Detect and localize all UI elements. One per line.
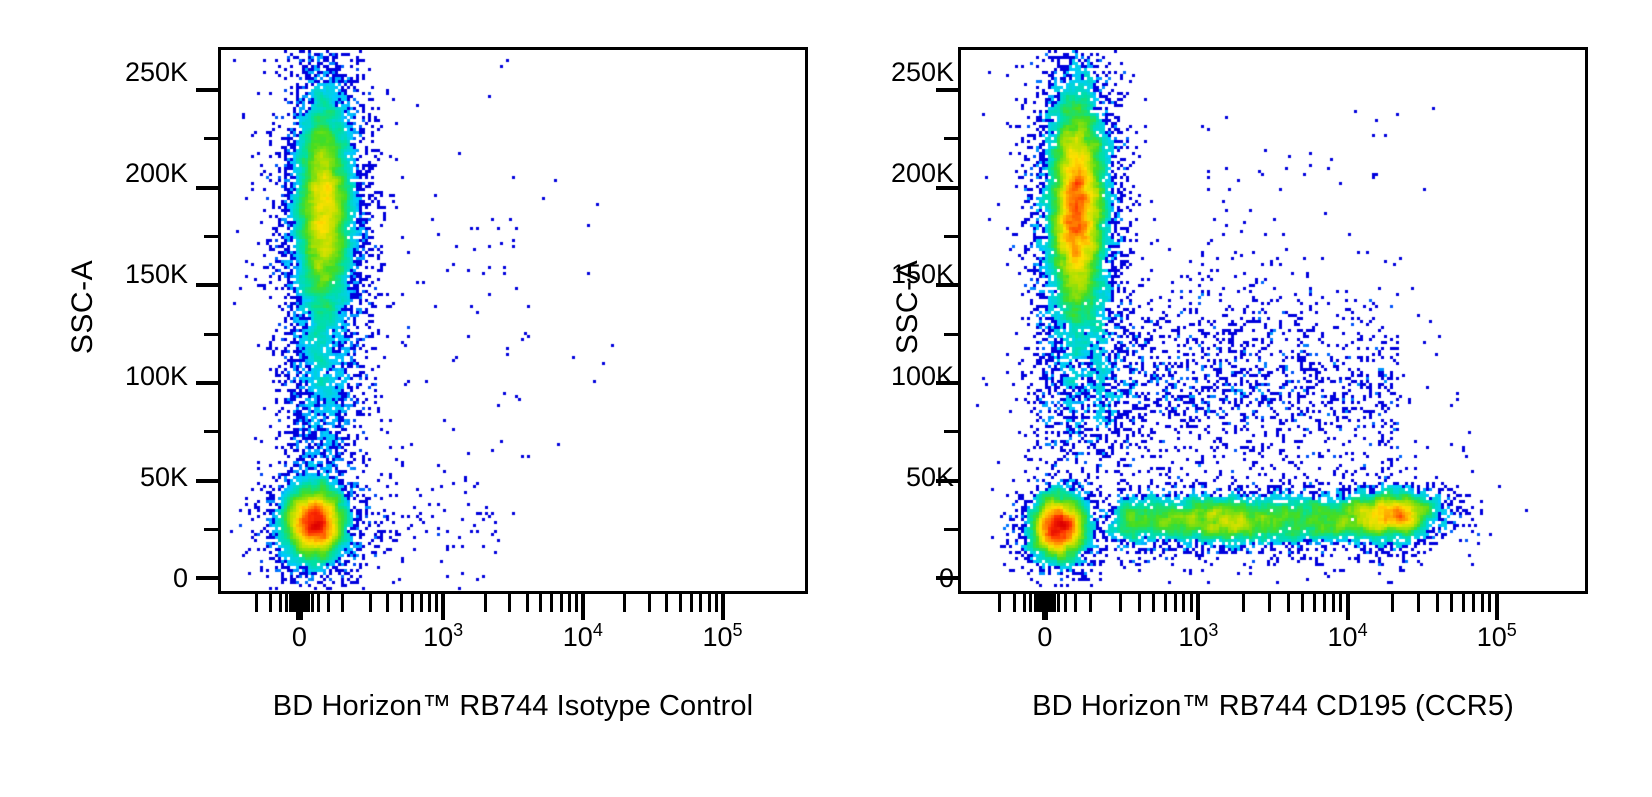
x-tick-minor xyxy=(1089,594,1092,612)
x-tick-minor xyxy=(420,594,423,612)
scatter-canvas-isotype-control xyxy=(221,50,805,591)
y-tick-minor xyxy=(204,235,220,238)
y-tick-minor xyxy=(944,235,960,238)
y-tick-minor xyxy=(944,430,960,433)
x-tick-minor xyxy=(998,594,1001,612)
x-tick-label-exponent: 3 xyxy=(453,620,463,640)
x-tick-minor xyxy=(1053,594,1056,612)
plot-panel-cd195: SSC-A 250K 200K 150K 100K 50K 0 BD Horiz… xyxy=(826,0,1652,797)
plot-panel-isotype-control: SSC-A 250K 200K 150K 100K 50K 0 BD Horiz… xyxy=(0,0,826,797)
x-tick-minor xyxy=(269,594,272,612)
x-tick-label-3: 105 xyxy=(663,622,783,653)
x-tick-minor xyxy=(1174,594,1177,612)
x-tick-label-exponent: 3 xyxy=(1208,620,1218,640)
x-tick-minor xyxy=(708,594,711,612)
plot-caption-isotype-control: BD Horizon™ RB744 Isotype Control xyxy=(113,690,913,723)
y-tick-major xyxy=(196,576,220,580)
plot-caption-cd195: BD Horizon™ RB744 CD195 (CCR5) xyxy=(873,690,1652,723)
plot-area-isotype-control[interactable] xyxy=(218,47,808,594)
y-tick-major xyxy=(196,88,220,92)
x-tick-minor xyxy=(285,594,288,612)
plot-area-cd195[interactable] xyxy=(958,47,1588,594)
x-tick-major xyxy=(1043,594,1047,620)
y-tick-minor xyxy=(944,137,960,140)
x-tick-minor xyxy=(1472,594,1475,612)
x-tick-label-0: 0 xyxy=(985,622,1105,653)
x-tick-label-base: 10 xyxy=(1328,622,1358,652)
y-tick-minor xyxy=(204,137,220,140)
x-tick-label-1: 103 xyxy=(1138,622,1258,653)
x-tick-major xyxy=(581,594,585,620)
x-tick-minor xyxy=(386,594,389,612)
x-tick-minor xyxy=(255,594,258,612)
x-tick-label-2: 104 xyxy=(523,622,643,653)
x-tick-minor xyxy=(279,594,282,612)
y-tick-minor xyxy=(204,333,220,336)
x-tick-minor xyxy=(508,594,511,612)
x-tick-minor xyxy=(539,594,542,612)
x-tick-minor xyxy=(1268,594,1271,612)
x-tick-minor xyxy=(1462,594,1465,612)
y-tick-minor xyxy=(204,430,220,433)
y-tick-major xyxy=(196,381,220,385)
x-tick-minor xyxy=(1339,594,1342,612)
x-tick-label-3: 105 xyxy=(1437,622,1557,653)
x-tick-minor xyxy=(307,594,310,612)
x-tick-minor xyxy=(1057,594,1060,612)
y-tick-label-200k: 200K xyxy=(80,158,188,189)
x-tick-label-base: 10 xyxy=(1477,622,1507,652)
x-tick-minor xyxy=(1074,594,1077,612)
x-tick-major xyxy=(721,594,725,620)
figure-root: SSC-A 250K 200K 150K 100K 50K 0 BD Horiz… xyxy=(0,0,1652,797)
y-tick-major xyxy=(936,186,960,190)
y-tick-label-100k: 100K xyxy=(846,361,954,392)
x-tick-minor xyxy=(1164,594,1167,612)
x-tick-minor xyxy=(679,594,682,612)
y-tick-label-250k: 250K xyxy=(80,57,188,88)
x-tick-minor xyxy=(369,594,372,612)
x-tick-minor xyxy=(715,594,718,612)
x-tick-minor xyxy=(1029,594,1032,612)
x-tick-minor xyxy=(1119,594,1122,612)
x-tick-label-1: 103 xyxy=(383,622,503,653)
x-tick-minor xyxy=(699,594,702,612)
x-tick-minor xyxy=(665,594,668,612)
x-tick-minor xyxy=(648,594,651,612)
y-tick-label-100k: 100K xyxy=(80,361,188,392)
x-tick-major xyxy=(1495,594,1499,620)
x-tick-label-base: 10 xyxy=(423,622,453,652)
x-tick-minor xyxy=(1242,594,1245,612)
x-tick-label-exponent: 4 xyxy=(1358,620,1368,640)
x-tick-minor xyxy=(1332,594,1335,612)
x-tick-major xyxy=(1196,594,1200,620)
x-tick-minor xyxy=(411,594,414,612)
y-tick-label-50k: 50K xyxy=(846,462,954,493)
x-tick-minor xyxy=(568,594,571,612)
x-tick-minor xyxy=(1301,594,1304,612)
x-tick-minor xyxy=(327,594,330,612)
y-tick-label-200k: 200K xyxy=(846,158,954,189)
y-tick-major xyxy=(196,479,220,483)
x-tick-label-base: 0 xyxy=(1037,622,1052,652)
y-tick-minor xyxy=(944,333,960,336)
x-tick-label-base: 0 xyxy=(292,622,307,652)
x-tick-minor xyxy=(1190,594,1193,612)
x-tick-minor xyxy=(526,594,529,612)
x-tick-minor xyxy=(1417,594,1420,612)
y-tick-major xyxy=(936,283,960,287)
x-tick-minor xyxy=(435,594,438,612)
y-tick-major xyxy=(936,576,960,580)
y-tick-label-250k: 250K xyxy=(846,57,954,88)
x-tick-minor xyxy=(1013,594,1016,612)
x-tick-minor xyxy=(1450,594,1453,612)
x-tick-minor xyxy=(1481,594,1484,612)
x-tick-minor xyxy=(311,594,314,612)
x-tick-label-exponent: 5 xyxy=(733,620,743,640)
x-tick-minor xyxy=(690,594,693,612)
x-tick-minor xyxy=(1064,594,1067,612)
x-tick-minor xyxy=(1323,594,1326,612)
x-tick-major xyxy=(1346,594,1350,620)
y-tick-label-150k: 150K xyxy=(80,259,188,290)
x-tick-minor xyxy=(550,594,553,612)
x-tick-minor xyxy=(575,594,578,612)
x-tick-minor xyxy=(1152,594,1155,612)
x-tick-minor xyxy=(428,594,431,612)
y-tick-major xyxy=(936,479,960,483)
x-tick-major xyxy=(297,594,301,620)
x-tick-minor xyxy=(400,594,403,612)
x-tick-minor xyxy=(1436,594,1439,612)
scatter-canvas-cd195 xyxy=(961,50,1585,591)
x-tick-minor xyxy=(341,594,344,612)
x-tick-label-base: 10 xyxy=(703,622,733,652)
x-tick-major xyxy=(441,594,445,620)
x-tick-minor xyxy=(317,594,320,612)
y-tick-major xyxy=(936,88,960,92)
x-tick-label-0: 0 xyxy=(239,622,359,653)
x-tick-label-exponent: 5 xyxy=(1507,620,1517,640)
y-tick-label-0: 0 xyxy=(80,563,188,594)
x-tick-minor xyxy=(1391,594,1394,612)
x-tick-minor xyxy=(1182,594,1185,612)
x-tick-label-exponent: 4 xyxy=(593,620,603,640)
x-tick-minor xyxy=(1287,594,1290,612)
y-tick-major xyxy=(196,186,220,190)
y-tick-major xyxy=(936,381,960,385)
x-tick-minor xyxy=(560,594,563,612)
x-tick-label-base: 10 xyxy=(563,622,593,652)
y-tick-major xyxy=(196,283,220,287)
x-tick-minor xyxy=(1138,594,1141,612)
x-tick-minor xyxy=(1488,594,1491,612)
x-tick-label-base: 10 xyxy=(1178,622,1208,652)
x-tick-minor xyxy=(623,594,626,612)
y-tick-minor xyxy=(204,528,220,531)
y-tick-label-50k: 50K xyxy=(80,462,188,493)
x-tick-minor xyxy=(484,594,487,612)
x-tick-minor xyxy=(1313,594,1316,612)
y-tick-minor xyxy=(944,528,960,531)
x-tick-minor xyxy=(1023,594,1026,612)
x-tick-label-2: 104 xyxy=(1288,622,1408,653)
